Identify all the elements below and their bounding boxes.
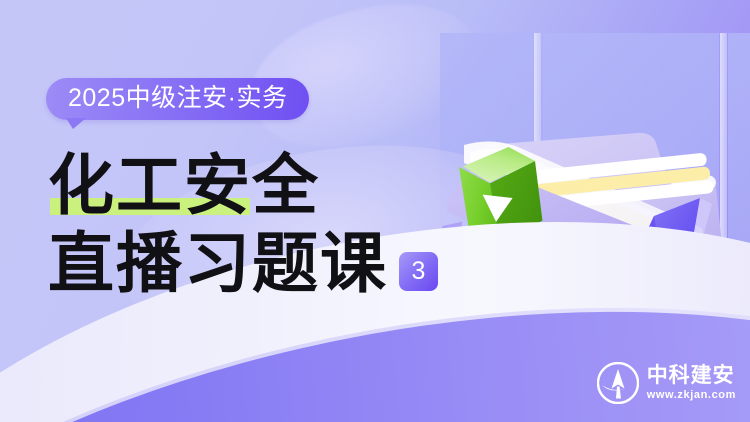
episode-badge: 3 — [399, 252, 438, 291]
title-line-2-container: 直播习题课 3 — [48, 224, 438, 302]
zkjan-circle-logo-icon — [597, 362, 639, 404]
title-block: 化工安全 直播习题课 3 — [48, 146, 438, 302]
brand-logo: 中科建安 www.zkjan.com — [597, 362, 736, 404]
title-line-2: 直播习题课 — [48, 224, 388, 302]
brand-logo-text: 中科建安 www.zkjan.com — [647, 364, 736, 402]
course-badge: 2025中级注安·实务 — [46, 78, 309, 120]
title-line-1: 化工安全 — [48, 146, 320, 224]
course-banner: 2025中级注安·实务 化工安全 直播习题课 3 中科建安 www.zkjan.… — [0, 0, 750, 422]
brand-url: www.zkjan.com — [647, 388, 736, 402]
title-line-1-container: 化工安全 — [48, 146, 438, 224]
brand-name: 中科建安 — [647, 364, 736, 386]
course-badge-container: 2025中级注安·实务 — [46, 78, 309, 120]
